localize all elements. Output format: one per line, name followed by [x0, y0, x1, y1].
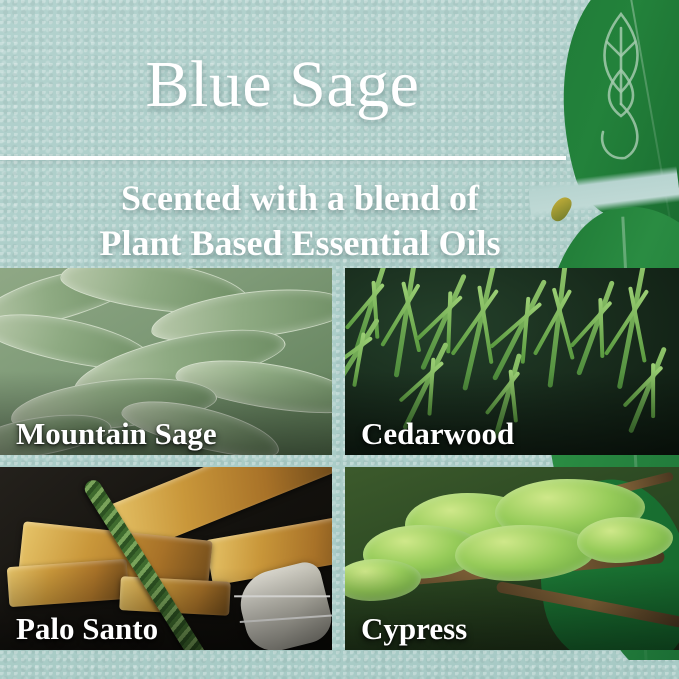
subtitle-line-1: Scented with a blend of: [0, 176, 600, 221]
ingredient-label: Palo Santo: [16, 613, 158, 644]
ingredient-tile-mountain-sage: Mountain Sage: [0, 268, 332, 455]
subtitle: Scented with a blend of Plant Based Esse…: [0, 176, 600, 267]
title-divider: [0, 156, 566, 160]
product-scent-card: Blue Sage Scented with a blend of Plant …: [0, 0, 679, 679]
ingredient-label: Cedarwood: [361, 418, 514, 449]
ingredient-tile-palo-santo: Palo Santo: [0, 467, 332, 650]
page-title: Blue Sage: [0, 52, 565, 118]
subtitle-line-2: Plant Based Essential Oils: [0, 221, 600, 266]
ingredient-label: Mountain Sage: [16, 418, 217, 449]
leaf-droplet-emblem-icon: [585, 8, 657, 166]
ingredient-tile-cedarwood: Cedarwood: [345, 268, 679, 455]
ingredient-grid: Mountain Sage Cedarwood: [0, 268, 679, 650]
ingredient-tile-cypress: Cypress: [345, 467, 679, 650]
ingredient-label: Cypress: [361, 613, 467, 644]
